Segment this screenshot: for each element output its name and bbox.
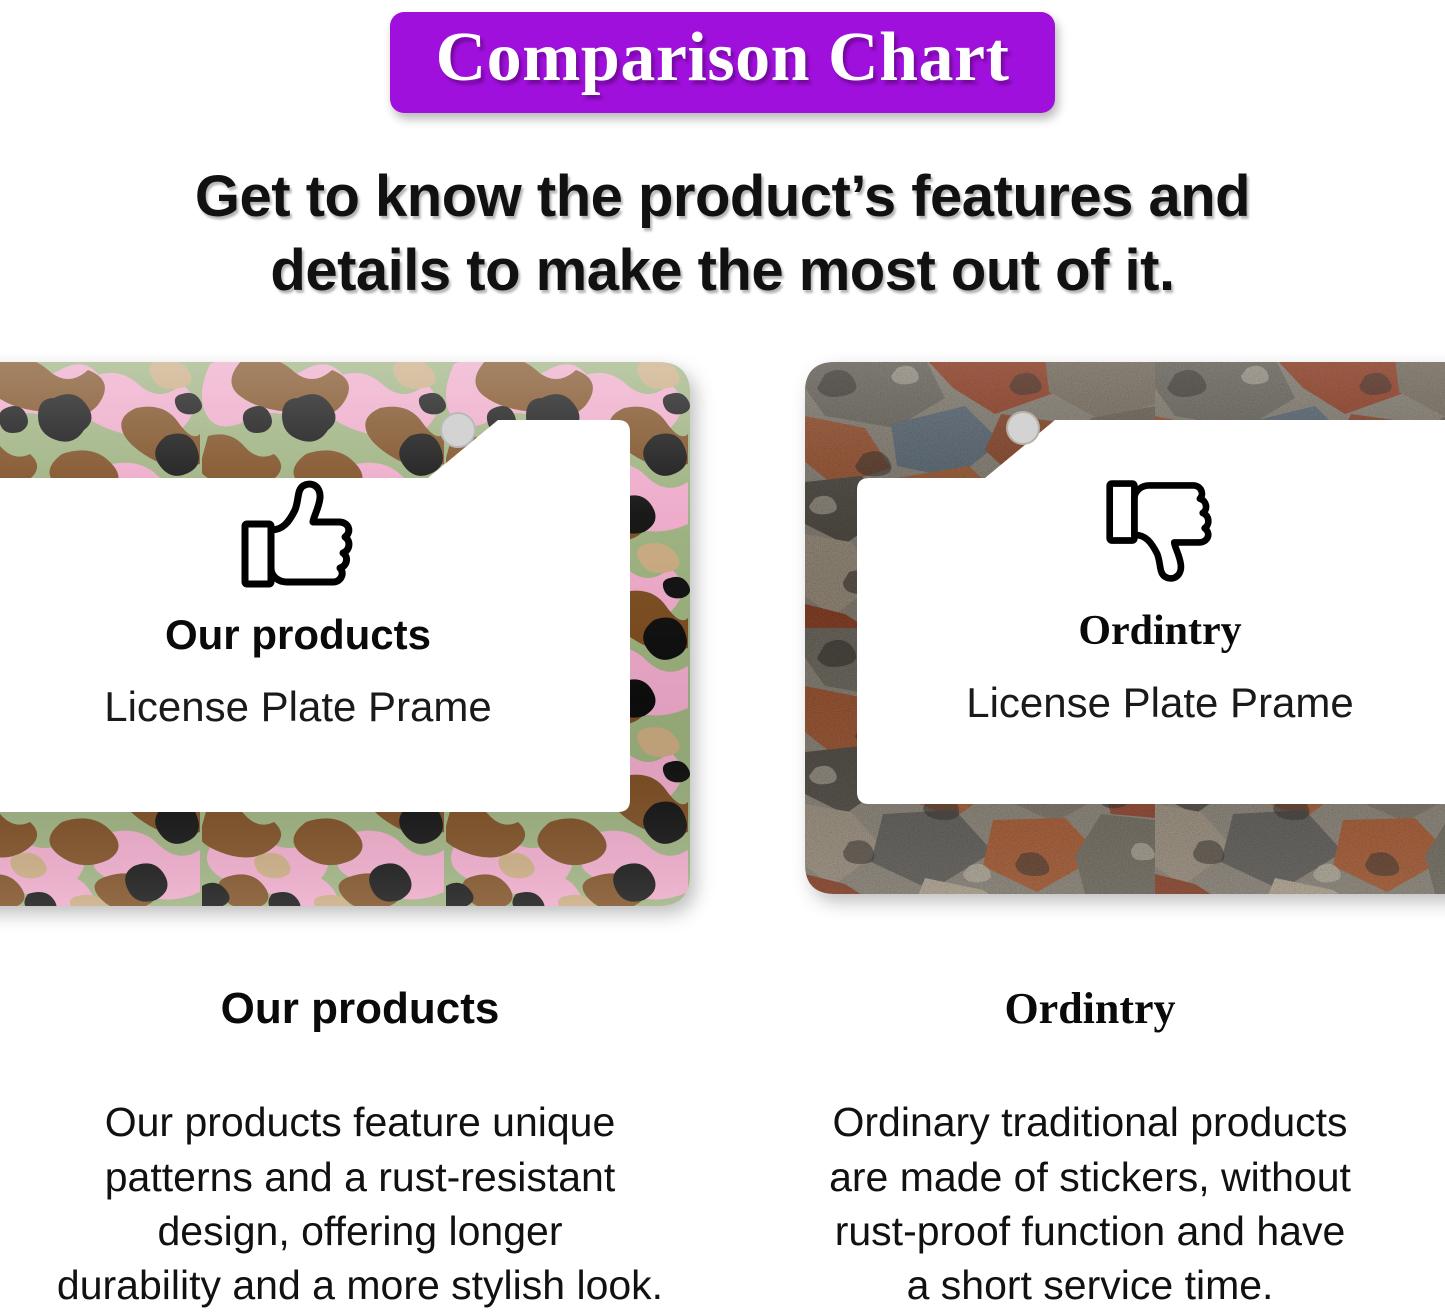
comparison-text-row: Our products Our products feature unique… xyxy=(0,985,1445,1315)
our-product-frame-subtitle: License Plate Prame xyxy=(18,684,578,730)
ordinary-desc-line-1: Ordinary traditional products xyxy=(832,1099,1347,1145)
our-products-heading: Our products xyxy=(15,985,705,1033)
subtitle-line-1: Get to know the product’s features and xyxy=(100,160,1345,234)
our-products-description: Our products feature unique patterns and… xyxy=(15,1095,705,1311)
title-banner-container: Comparison Chart xyxy=(0,12,1445,113)
mounting-hole-icon xyxy=(441,413,475,447)
mounting-hole-icon xyxy=(1007,412,1039,444)
ordinary-product-frame-content: Ordintry License Plate Prame xyxy=(865,476,1445,726)
our-products-desc-line-1: Our products feature unique xyxy=(105,1099,616,1145)
ordinary-heading: Ordintry xyxy=(745,985,1435,1033)
ordinary-desc-line-2: are made of stickers, without xyxy=(829,1154,1351,1200)
comparison-column-our-products: Our products Our products feature unique… xyxy=(15,985,705,1312)
subtitle-line-2: details to make the most out of it. xyxy=(100,234,1345,308)
product-frames-row: Our products License Plate Prame xyxy=(0,358,1445,918)
page-subtitle: Get to know the product’s features and d… xyxy=(100,160,1345,308)
our-products-desc-line-3: design, offering longer xyxy=(158,1208,563,1254)
ordinary-product-frame-subtitle: License Plate Prame xyxy=(865,680,1445,726)
our-products-desc-line-4: durability and a more stylish look. xyxy=(57,1262,663,1308)
comparison-column-ordinary: Ordintry Ordinary traditional products a… xyxy=(745,985,1435,1312)
comparison-chart-banner: Comparison Chart xyxy=(390,12,1056,113)
our-product-frame-content: Our products License Plate Prame xyxy=(18,478,578,730)
ordinary-desc-line-3: rust-proof function and have xyxy=(835,1208,1346,1254)
ordinary-description: Ordinary traditional products are made o… xyxy=(745,1095,1435,1311)
our-product-plate-frame: Our products License Plate Prame xyxy=(0,358,690,910)
ordinary-product-frame-title: Ordintry xyxy=(865,608,1445,654)
thumbs-up-icon xyxy=(239,478,357,590)
thumbs-down-icon xyxy=(1104,476,1216,586)
our-product-frame-title: Our products xyxy=(18,612,578,658)
ordinary-desc-line-4: a short service time. xyxy=(907,1262,1274,1308)
ordinary-product-plate-frame: Ordintry License Plate Prame xyxy=(805,358,1445,898)
page-title: Comparison Chart xyxy=(436,18,1010,99)
our-products-desc-line-2: patterns and a rust-resistant xyxy=(105,1154,615,1200)
